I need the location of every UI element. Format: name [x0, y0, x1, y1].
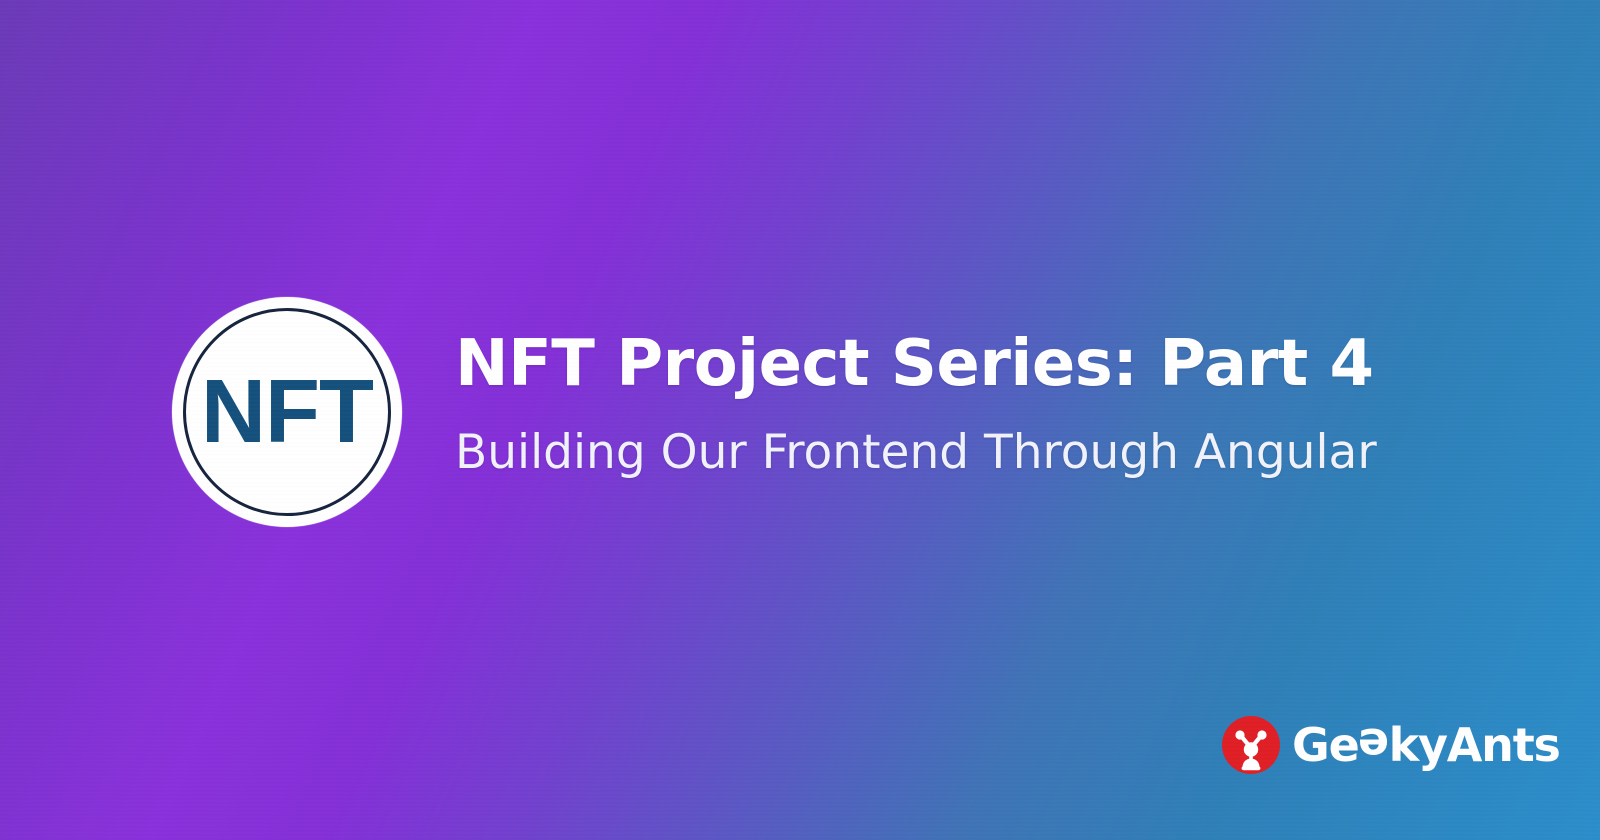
page-subtitle: Building Our Frontend Through Angular — [455, 427, 1455, 479]
geekyants-ant-icon — [1222, 716, 1280, 774]
nft-badge-label: NFT — [201, 367, 373, 457]
nft-blog-banner: NFT NFT Project Series: Part 4 Building … — [0, 0, 1600, 840]
brand-letters-rest: kyAnts — [1389, 718, 1560, 772]
headline-block: NFT Project Series: Part 4 Building Our … — [455, 330, 1455, 479]
brand-letter-e2-rotated: e — [1359, 722, 1389, 768]
brand-letter-e1: e — [1329, 718, 1359, 772]
geekyants-logo: GeekyAnts — [1222, 716, 1560, 774]
page-title: NFT Project Series: Part 4 — [455, 330, 1455, 399]
brand-letter-g: G — [1292, 718, 1329, 772]
geekyants-wordmark: GeekyAnts — [1292, 722, 1560, 768]
nft-badge: NFT — [172, 297, 402, 527]
